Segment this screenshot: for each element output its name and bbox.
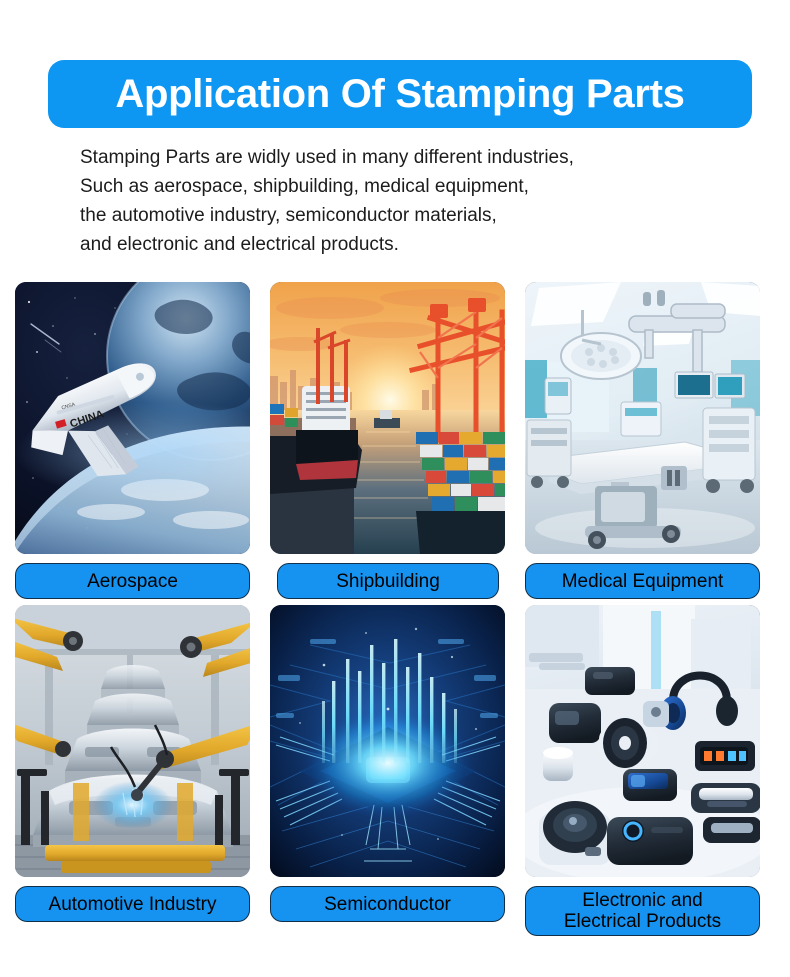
application-gallery-grid: CHINA CNSA Aerospace — [15, 282, 775, 936]
intro-line-4: and electronic and electrical products. — [80, 230, 740, 259]
caption-label: Medical Equipment — [562, 571, 724, 592]
gallery-cell-automotive: Automotive Industry — [15, 605, 250, 936]
caption-automotive[interactable]: Automotive Industry — [15, 886, 250, 922]
caption-line-2: Electrical Products — [564, 911, 721, 932]
automotive-image[interactable] — [15, 605, 250, 877]
gallery-cell-medical: Medical Equipment — [525, 282, 760, 599]
gallery-cell-aerospace: CHINA CNSA Aerospace — [15, 282, 250, 599]
gallery-cell-electronics: Electronic andElectrical Products — [525, 605, 760, 936]
caption-label: Shipbuilding — [336, 571, 440, 592]
intro-line-2: Such as aerospace, shipbuilding, medical… — [80, 172, 740, 201]
electronics-image[interactable] — [525, 605, 760, 877]
intro-line-1: Stamping Parts are widly used in many di… — [80, 143, 740, 172]
shipbuilding-image[interactable] — [270, 282, 505, 554]
caption-label: Automotive Industry — [49, 894, 217, 915]
caption-label: Electronic andElectrical Products — [564, 890, 721, 932]
intro-paragraph: Stamping Parts are widly used in many di… — [80, 143, 740, 259]
intro-line-3: the automotive industry, semiconductor m… — [80, 201, 740, 230]
caption-aerospace[interactable]: Aerospace — [15, 563, 250, 599]
caption-shipbuilding[interactable]: Shipbuilding — [277, 563, 499, 599]
caption-label: Semiconductor — [324, 894, 451, 915]
page-title: Application Of Stamping Parts — [115, 72, 684, 117]
semiconductor-image[interactable] — [270, 605, 505, 877]
caption-semiconductor[interactable]: Semiconductor — [270, 886, 505, 922]
gallery-cell-semiconductor: Semiconductor — [270, 605, 505, 936]
caption-medical[interactable]: Medical Equipment — [525, 563, 760, 599]
page-title-banner: Application Of Stamping Parts — [48, 60, 752, 128]
gallery-cell-shipbuilding: Shipbuilding — [270, 282, 505, 599]
caption-electronics[interactable]: Electronic andElectrical Products — [525, 886, 760, 936]
caption-line-1: Electronic and — [582, 890, 702, 911]
page-root: Application Of Stamping Parts Stamping P… — [0, 0, 790, 977]
medical-image[interactable] — [525, 282, 760, 554]
caption-label: Aerospace — [87, 571, 178, 592]
aerospace-image[interactable]: CHINA CNSA — [15, 282, 250, 554]
